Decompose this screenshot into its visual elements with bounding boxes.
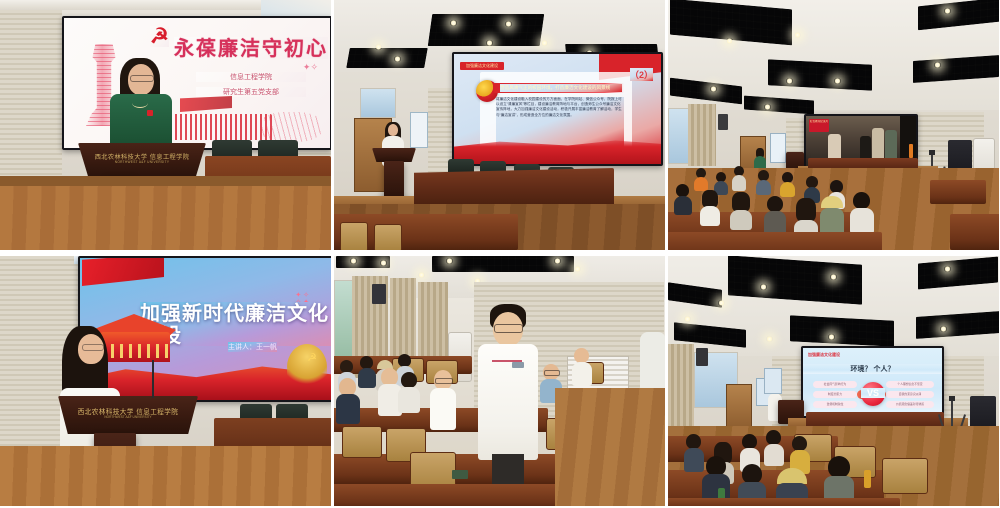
microphone-icon (152, 360, 154, 398)
seat (342, 426, 382, 458)
glasses-icon (544, 370, 560, 376)
slide-headline: 营造风清气正的校园环境，打造廉洁文化建设的风景线 (500, 84, 622, 92)
head (574, 348, 589, 363)
audience-person (694, 168, 708, 190)
ceiling-spotlight (834, 78, 841, 84)
ceiling-spotlight (446, 258, 453, 264)
ceiling-spotlight (944, 266, 951, 272)
ceiling-grid (432, 256, 574, 272)
ceiling-spotlight (786, 78, 793, 84)
audience-person (730, 192, 752, 228)
torso (336, 394, 360, 424)
audience-person (700, 190, 720, 224)
seat-row-front (334, 484, 570, 506)
audience-person (572, 348, 592, 384)
torso (358, 368, 376, 388)
photo-6: 加强廉洁文化建设 环境？ 个人？ 社会风气影响行为 制度约束力 监督机制缺位 个… (668, 256, 999, 506)
photo-2: 加强廉洁文化建设 营造风清气正的校园环境，打造廉洁文化建设的风景线 （2） 将廉… (334, 0, 665, 250)
party-emblem-icon: ☭ (307, 351, 317, 364)
hair (732, 192, 750, 212)
led-screen: 加强廉洁文化建设 营造风清气正的校园环境，打造廉洁文化建设的风景线 （2） 将廉… (452, 52, 663, 166)
glasses-icon (130, 75, 154, 82)
torso (572, 362, 592, 386)
head (792, 436, 807, 451)
ceiling-spotlight (684, 316, 691, 322)
floor (0, 446, 331, 506)
ceiling-spotlight (394, 56, 401, 62)
audience-person (732, 166, 746, 190)
ceiling-spotlight (350, 258, 357, 264)
ceiling-spotlight (934, 62, 941, 68)
slide-presenter: 主讲人：王一帆 (228, 342, 277, 352)
audience-seat-row (950, 214, 999, 250)
audience-person (430, 370, 456, 428)
audience-person (756, 170, 771, 194)
flag-graphic (180, 96, 232, 112)
curtain (688, 104, 716, 166)
head (686, 434, 701, 449)
slide-title: 永葆廉洁守初心 (174, 37, 328, 59)
option-right-2: 自我约束意识淡薄 (886, 391, 934, 398)
head (766, 430, 781, 445)
ceiling-spotlight (940, 326, 947, 332)
option-left-2: 制度约束力 (813, 391, 857, 398)
ceiling-grid (790, 315, 894, 346)
head (401, 372, 417, 388)
option-left-1: 社会风气影响行为 (813, 381, 857, 388)
glasses-icon (494, 324, 523, 333)
curtain (668, 344, 694, 430)
audience-person (358, 356, 376, 386)
ceiling-spotlight (450, 20, 457, 26)
ceiling-spotlight (375, 44, 382, 50)
audience-person (790, 436, 810, 472)
ceiling-spotlight (554, 258, 561, 264)
podium-nameplate-en: NORTHWEST A&F UNIVERSITY (66, 415, 190, 419)
podium-nameplate-en: NORTHWEST A&F UNIVERSITY (86, 160, 198, 164)
ceiling-spotlight (944, 8, 951, 14)
audience-seat-row-front (668, 232, 882, 250)
ceiling-spotlight (505, 21, 512, 27)
photo-5 (334, 256, 665, 506)
video-accent (909, 144, 913, 158)
party-emblem-icon: ☭ (150, 26, 169, 47)
head (767, 196, 783, 212)
ceiling-spotlight (794, 32, 801, 38)
slide-corner-tag: 加强廉洁文化建设 (808, 352, 840, 358)
audience-person (336, 378, 360, 422)
ceiling-grid (346, 48, 428, 68)
audience-person (398, 372, 420, 412)
speaker-box-icon (372, 284, 386, 304)
hair (796, 198, 816, 222)
option-left-3: 监督机制缺位 (813, 401, 857, 408)
ceiling-spotlight (830, 274, 837, 280)
torso (756, 180, 771, 195)
audience-seat (374, 224, 402, 250)
torso (700, 206, 720, 226)
head (853, 192, 870, 209)
cap-icon (821, 196, 843, 208)
door (726, 384, 752, 430)
phone-on-desk-icon (452, 470, 468, 479)
floor (555, 388, 665, 506)
ceiling-spotlight (760, 284, 767, 290)
head (742, 464, 762, 484)
photo-4: ✦ ✧✧ ✦ 加强新时代廉洁文化建设 主讲人：王一帆 ☭ (0, 256, 331, 506)
torso (674, 196, 692, 215)
ceiling-spotlight (418, 272, 425, 278)
head (828, 456, 850, 478)
option-right-3: 价值观念偏差对待诱惑 (886, 401, 934, 408)
torso (732, 175, 746, 191)
ceiling-grid (768, 59, 872, 90)
shirt-logo (512, 362, 524, 368)
seat (882, 458, 928, 494)
notice-board (410, 112, 428, 148)
notice-board (770, 133, 786, 163)
audience-person (850, 192, 874, 232)
led-screen: ☭ ᓚ ✦✧ 永葆廉洁守初心 信息工程学院 研究生第五党支部 (62, 16, 331, 150)
audience-seat-row-front (668, 498, 900, 506)
photo-3: 红色教育纪录片 (668, 0, 999, 250)
photo-collage: ☭ ᓚ ✦✧ 永葆廉洁守初心 信息工程学院 研究生第五党支部 (0, 0, 1000, 508)
torso (430, 388, 456, 430)
vs-label: VS (861, 388, 885, 398)
led-screen: 加强廉洁文化建设 环境？ 个人？ 社会风气影响行为 制度约束力 监督机制缺位 个… (801, 346, 944, 418)
cap-icon (777, 468, 807, 484)
slide-5: 加强廉洁文化建设 环境？ 个人？ 社会风气影响行为 制度约束力 监督机制缺位 个… (803, 348, 942, 416)
slide-subtitle-1: 信息工程学院 (196, 72, 306, 82)
slide-2: 加强廉洁文化建设 营造风清气正的校园环境，打造廉洁文化建设的风景线 （2） 将廉… (454, 54, 661, 164)
audience-person (674, 184, 692, 214)
audience-person (764, 430, 784, 464)
torso (730, 210, 752, 230)
ceiling-spotlight (766, 336, 773, 342)
ceiling-spotlight (541, 40, 548, 46)
ceiling-spotlight (574, 266, 581, 272)
ceiling-spotlight (486, 40, 493, 46)
torso (398, 387, 420, 413)
ceiling-spotlight (710, 86, 717, 92)
photo-1: ☭ ᓚ ✦✧ 永葆廉洁守初心 信息工程学院 研究生第五党支部 (0, 0, 331, 250)
head (742, 434, 757, 449)
slide-subtitle-2: 研究生第五党支部 (196, 87, 306, 97)
collar (492, 344, 522, 362)
video-caption-text: 红色教育纪录片 (809, 120, 829, 124)
floor (0, 178, 331, 250)
slide-page-marker: （2） (630, 68, 653, 81)
standing-student (476, 304, 540, 504)
torso (694, 177, 708, 191)
stage-edge (0, 176, 331, 186)
ceiling-spotlight (380, 260, 387, 266)
head (388, 124, 398, 136)
audience-seat (340, 222, 368, 250)
party-pin-icon (147, 110, 153, 116)
bottle-icon (864, 470, 871, 488)
audience-person (780, 172, 795, 196)
audience-seat-row (930, 180, 986, 204)
window (360, 88, 396, 118)
necklace (132, 98, 148, 108)
audience-person (764, 196, 786, 234)
ceiling-spotlight (764, 104, 771, 110)
speaker-box-icon (718, 114, 728, 130)
notice-panel (764, 368, 782, 394)
podium-stem (384, 161, 404, 199)
glasses-icon (82, 344, 104, 351)
ceiling-spotlight (718, 300, 725, 306)
slide-body-text: 将廉洁文化建设融入校园建设的方方面面，在学院网站、微信公众号、院报上可以设立“清… (496, 97, 624, 149)
wall-panel-left (0, 0, 62, 205)
audience-person (684, 434, 704, 470)
torso (850, 208, 874, 234)
cloud-graphic (260, 112, 322, 142)
torso (764, 444, 784, 466)
slide-question: 环境？ 个人？ (803, 364, 942, 374)
slide-corner-tag: 加强廉洁文化建设 (460, 62, 504, 70)
national-flag-graphic (82, 256, 164, 286)
head (706, 456, 726, 476)
glasses-icon (435, 378, 453, 384)
torso (684, 448, 704, 472)
chair (448, 159, 474, 173)
podium (372, 148, 416, 162)
torso (780, 182, 795, 197)
speaker-box-icon (696, 348, 708, 366)
conference-table (414, 168, 614, 208)
ceiling-spotlight (828, 334, 835, 340)
ceiling-spotlight (726, 38, 733, 44)
audience-person-cap (820, 196, 844, 236)
option-right-1: 个人理想信念不坚定 (886, 381, 934, 388)
